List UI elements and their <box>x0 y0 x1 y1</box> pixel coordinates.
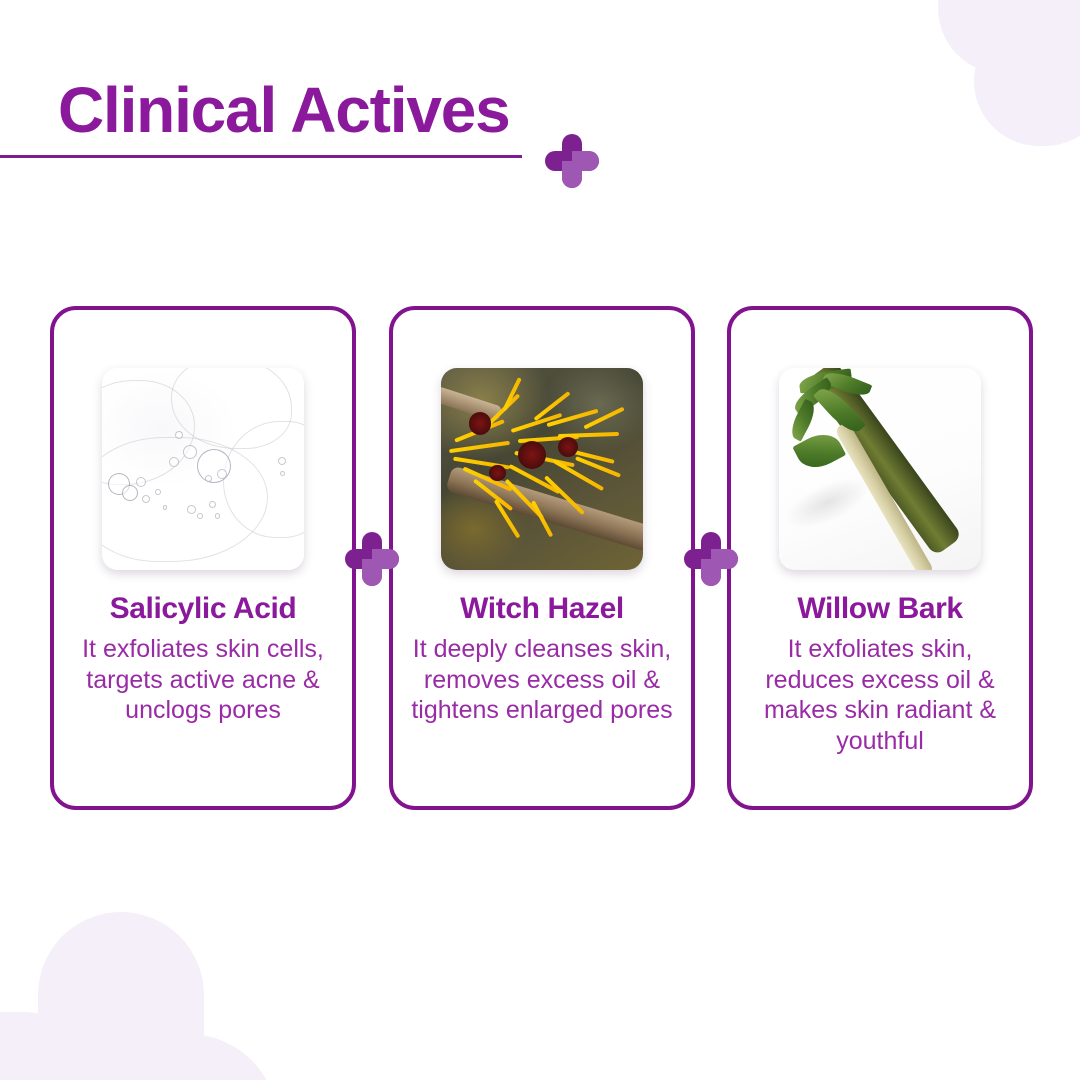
ingredient-card-willow-bark[interactable]: Willow Bark It exfoliates skin, reduces … <box>727 306 1033 810</box>
card-body-text: It deeply cleanses skin, removes excess … <box>393 634 691 726</box>
ingredient-image-willow-bark <box>779 368 981 570</box>
ingredient-card-witch-hazel[interactable]: Witch Hazel It deeply cleanses skin, rem… <box>389 306 695 810</box>
card-body-text: It exfoliates skin, reduces excess oil &… <box>731 634 1029 756</box>
poster-canvas: Clinical Actives <box>0 0 1080 1080</box>
clover-plus-icon <box>345 532 401 588</box>
card-heading: Salicylic Acid <box>110 592 297 625</box>
card-heading: Witch Hazel <box>460 592 624 625</box>
ingredient-card-salicylic-acid[interactable]: Salicylic Acid It exfoliates skin cells,… <box>50 306 356 810</box>
card-heading: Willow Bark <box>797 592 962 625</box>
card-body-text: It exfoliates skin cells, targets active… <box>54 634 352 726</box>
ingredient-image-salicylic-acid <box>102 368 304 570</box>
clover-plus-icon <box>684 532 740 588</box>
ingredient-card-list: Salicylic Acid It exfoliates skin cells,… <box>0 0 1080 1080</box>
ingredient-image-witch-hazel <box>441 368 643 570</box>
